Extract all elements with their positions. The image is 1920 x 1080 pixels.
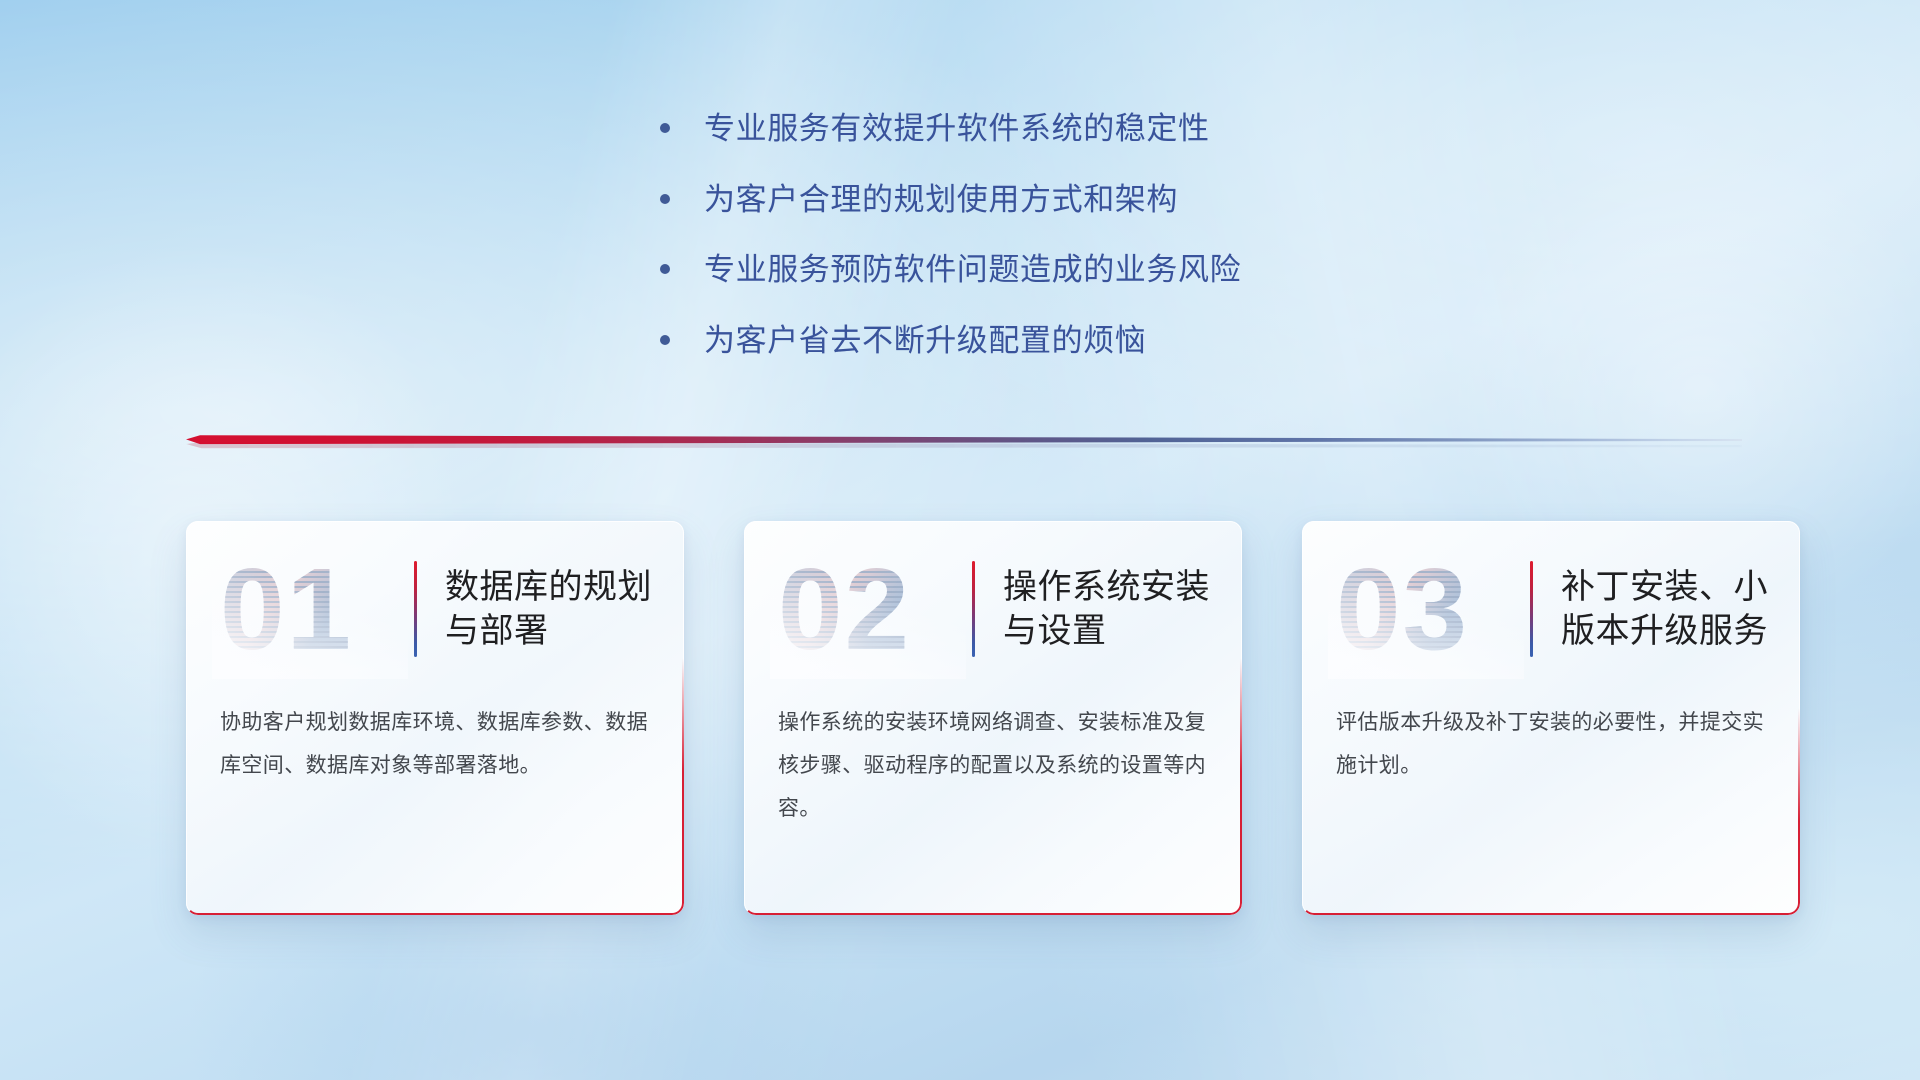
slide-canvas: 专业服务有效提升软件系统的稳定性 为客户合理的规划使用方式和架构 专业服务预防软…	[0, 0, 1920, 1080]
card-number: 01	[220, 551, 408, 667]
bullet-dot-icon	[660, 123, 670, 133]
card-number: 02	[778, 551, 966, 667]
card-body-text: 操作系统的安装环境网络调查、安装标准及复核步骤、驱动程序的配置以及系统的设置等内…	[744, 701, 1242, 830]
bullet-item-label: 专业服务预防软件问题造成的业务风险	[704, 249, 1241, 291]
bullet-item-label: 专业服务有效提升软件系统的稳定性	[704, 108, 1210, 150]
benefits-bullet-list: 专业服务有效提升软件系统的稳定性 为客户合理的规划使用方式和架构 专业服务预防软…	[660, 108, 1480, 390]
service-card[interactable]: 03 补丁安装、小版本升级服务 评估版本升级及补丁安装的必要性，并提交实施计划。	[1302, 521, 1800, 915]
section-divider	[186, 432, 1742, 448]
bullet-item-label: 为客户省去不断升级配置的烦恼	[704, 320, 1146, 362]
bullet-item: 专业服务预防软件问题造成的业务风险	[660, 249, 1480, 291]
bullet-dot-icon	[660, 194, 670, 204]
card-body-text: 协助客户规划数据库环境、数据库参数、数据库空间、数据库对象等部署落地。	[186, 701, 684, 787]
bullet-dot-icon	[660, 264, 670, 274]
card-title-rule-icon	[1530, 561, 1533, 657]
bullet-item: 为客户合理的规划使用方式和架构	[660, 179, 1480, 221]
card-header: 01 数据库的规划与部署	[186, 521, 684, 697]
card-number: 03	[1336, 551, 1524, 667]
card-title: 操作系统安装与设置	[1003, 565, 1218, 653]
bullet-item: 专业服务有效提升软件系统的稳定性	[660, 108, 1480, 150]
bullet-item: 为客户省去不断升级配置的烦恼	[660, 320, 1480, 362]
service-card[interactable]: 02 操作系统安装与设置 操作系统的安装环境网络调查、安装标准及复核步骤、驱动程…	[744, 521, 1242, 915]
card-title: 数据库的规划与部署	[445, 565, 660, 653]
card-title-rule-icon	[414, 561, 417, 657]
card-header: 03 补丁安装、小版本升级服务	[1302, 521, 1800, 697]
card-header: 02 操作系统安装与设置	[744, 521, 1242, 697]
card-body-text: 评估版本升级及补丁安装的必要性，并提交实施计划。	[1302, 701, 1800, 787]
bullet-item-label: 为客户合理的规划使用方式和架构	[704, 179, 1178, 221]
service-card-list: 01 数据库的规划与部署 协助客户规划数据库环境、数据库参数、数据库空间、数据库…	[186, 521, 1800, 915]
bullet-dot-icon	[660, 335, 670, 345]
card-title: 补丁安装、小版本升级服务	[1561, 565, 1776, 653]
card-title-rule-icon	[972, 561, 975, 657]
service-card[interactable]: 01 数据库的规划与部署 协助客户规划数据库环境、数据库参数、数据库空间、数据库…	[186, 521, 684, 915]
